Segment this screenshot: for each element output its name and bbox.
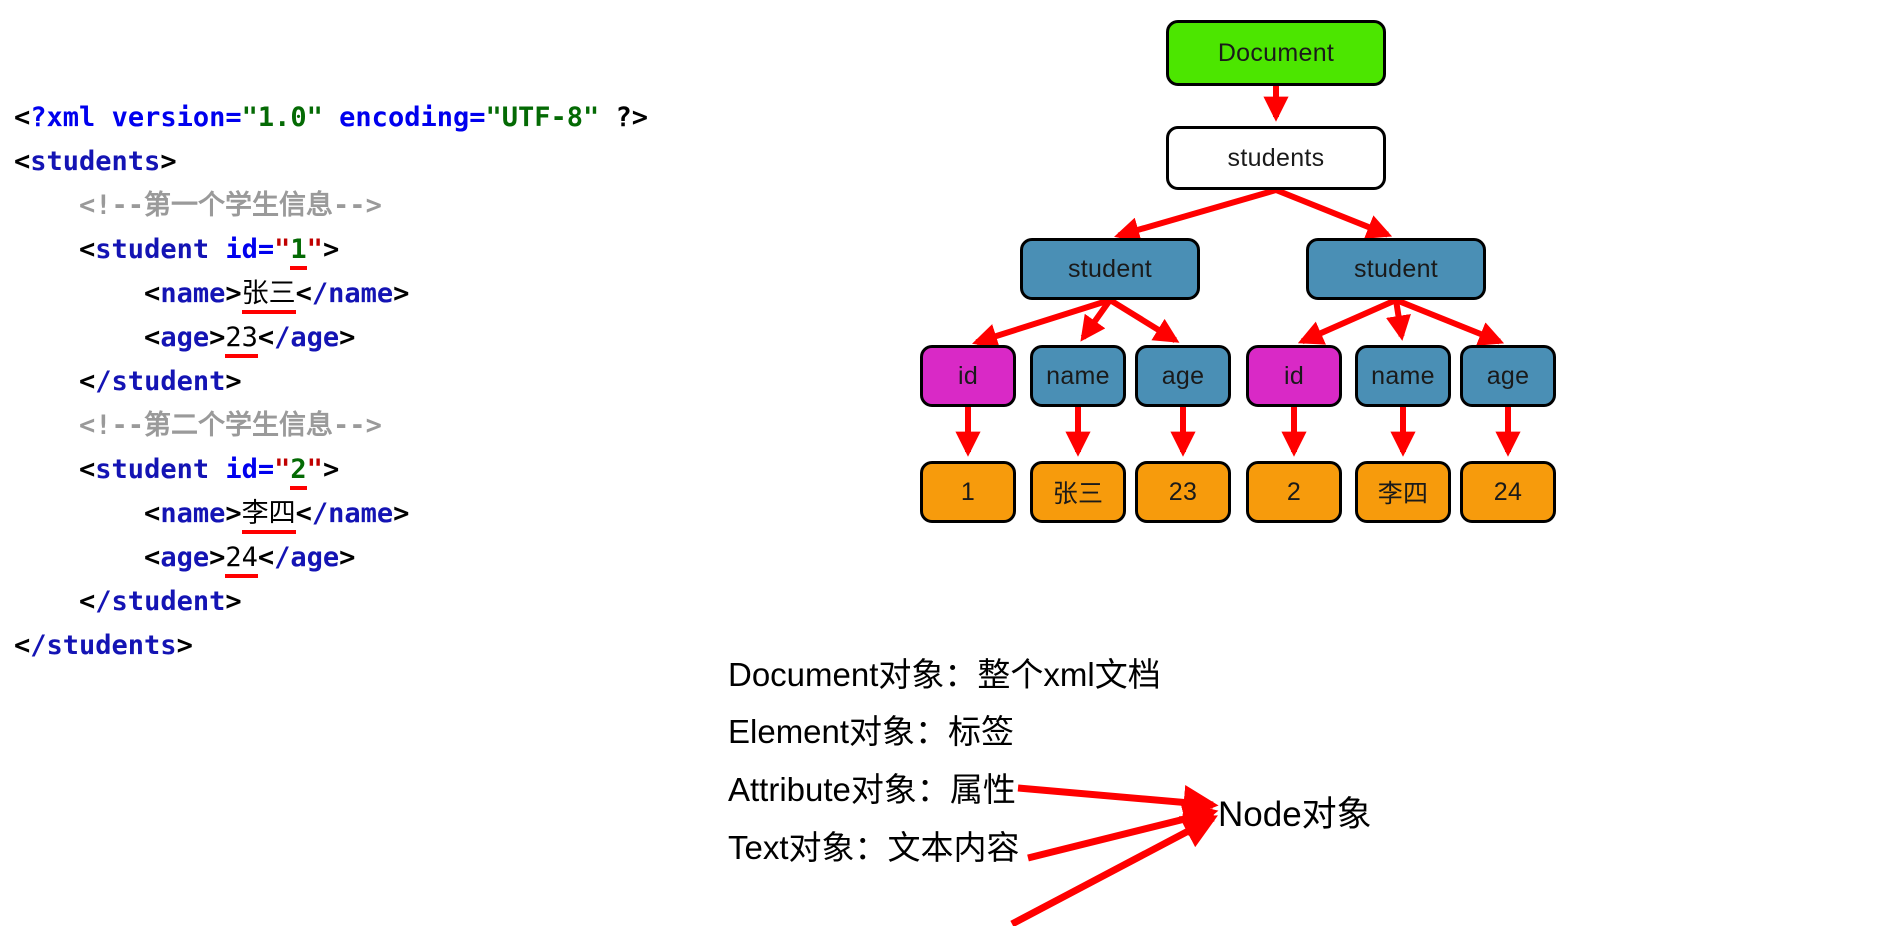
- code-token: students: [30, 146, 160, 177]
- code-token: >: [393, 498, 409, 529]
- code-token: =: [469, 102, 485, 133]
- code-token: <: [258, 542, 274, 573]
- code-token: =: [258, 454, 274, 485]
- code-token: /name: [312, 498, 393, 529]
- code-token: [95, 102, 111, 133]
- tree-edge-student-1-to-age-1: [1110, 300, 1175, 340]
- code-token: >: [225, 498, 241, 529]
- code-token: >: [209, 542, 225, 573]
- code-token: ": [307, 234, 323, 265]
- code-indent: [14, 586, 79, 617]
- code-token: <: [14, 630, 30, 661]
- code-token: /student: [95, 366, 225, 397]
- tree-node-label: name: [1371, 362, 1435, 391]
- tree-node-label: id: [1284, 362, 1304, 391]
- tree-edge-student-1-to-name-1: [1083, 300, 1110, 338]
- tree-node-label: students: [1228, 144, 1325, 173]
- tree-edge-students-to-student-2: [1276, 190, 1388, 235]
- code-token: >: [393, 278, 409, 309]
- code-token: name: [160, 498, 225, 529]
- code-indent: [14, 366, 79, 397]
- code-token: ": [274, 454, 290, 485]
- tree-node-label: id: [958, 362, 978, 391]
- code-token: >: [225, 278, 241, 309]
- code-token: [323, 102, 339, 133]
- code-token: 24: [225, 542, 258, 578]
- tree-node-label: 张三: [1053, 474, 1104, 510]
- tree-node-label: 23: [1169, 478, 1197, 507]
- legend-arrow-group: [1012, 788, 1213, 924]
- tree-node-value-age-1: 23: [1135, 461, 1231, 523]
- tree-node-value-id-1: 1: [920, 461, 1016, 523]
- code-token: >: [323, 234, 339, 265]
- code-indent: [14, 322, 144, 353]
- tree-node-label: age: [1162, 362, 1205, 391]
- code-token: >: [339, 322, 355, 353]
- code-line-age-2: <age>24</age>: [14, 536, 814, 580]
- code-token: >: [339, 542, 355, 573]
- code-token: /age: [274, 322, 339, 353]
- code-token: student: [95, 454, 209, 485]
- dom-tree-diagram: Documentstudentsstudentstudentidnameagei…: [860, 0, 1892, 926]
- code-token: <: [14, 146, 30, 177]
- xml-code-listing: <?xml version="1.0" encoding="UTF-8" ?><…: [14, 96, 814, 668]
- code-token: /name: [312, 278, 393, 309]
- tree-node-value-name-2: 李四: [1355, 461, 1451, 523]
- tree-node-name-1: name: [1030, 345, 1126, 407]
- code-token: <!--第一个学生信息-->: [79, 190, 382, 221]
- code-line-student-close-1: </student>: [14, 360, 814, 404]
- code-token: [599, 102, 615, 133]
- tree-node-label: age: [1487, 362, 1530, 391]
- code-token: =: [225, 102, 241, 133]
- code-line-name-2: <name>李四</name>: [14, 492, 814, 536]
- code-indent: [14, 498, 144, 529]
- code-token: "UTF-8": [485, 102, 599, 133]
- tree-node-value-age-2: 24: [1460, 461, 1556, 523]
- code-token: <: [144, 542, 160, 573]
- code-token: age: [160, 322, 209, 353]
- code-line-student-close-2: </student>: [14, 580, 814, 624]
- code-token: 2: [290, 454, 306, 490]
- code-token: >: [160, 146, 176, 177]
- code-token: 张三: [242, 278, 296, 314]
- code-token: <!--第二个学生信息-->: [79, 410, 382, 441]
- code-token: id: [225, 234, 258, 265]
- code-token: 1: [290, 234, 306, 270]
- code-indent: [14, 234, 79, 265]
- code-token: /age: [274, 542, 339, 573]
- code-token: ?xml: [30, 102, 95, 133]
- code-token: <: [296, 498, 312, 529]
- code-token: <: [79, 366, 95, 397]
- code-token: age: [160, 542, 209, 573]
- code-token: >: [209, 322, 225, 353]
- legend-text-line: Text对象：文本内容: [728, 821, 1020, 869]
- legend-element-line: Element对象：标签: [728, 705, 1014, 753]
- code-line-comment-1: <!--第一个学生信息-->: [14, 184, 814, 228]
- code-line-comment-2: <!--第二个学生信息-->: [14, 404, 814, 448]
- code-token: <: [296, 278, 312, 309]
- code-token: student: [95, 234, 209, 265]
- tree-node-document: Document: [1166, 20, 1386, 86]
- code-line-students-close: </students>: [14, 624, 814, 668]
- legend-attribute-line: Attribute对象：属性: [728, 763, 1016, 811]
- code-token: <: [258, 322, 274, 353]
- code-indent: [14, 542, 144, 573]
- code-token: "1.0": [242, 102, 323, 133]
- tree-node-label: 1: [961, 478, 975, 507]
- tree-node-label: 2: [1287, 478, 1301, 507]
- code-token: name: [160, 278, 225, 309]
- tree-node-label: name: [1046, 362, 1110, 391]
- code-token: <: [79, 234, 95, 265]
- code-line-decl: <?xml version="1.0" encoding="UTF-8" ?>: [14, 96, 814, 140]
- tree-node-age-1: age: [1135, 345, 1231, 407]
- code-token: version: [112, 102, 226, 133]
- tree-node-students: students: [1166, 126, 1386, 190]
- tree-node-id-1: id: [920, 345, 1016, 407]
- legend-node-target: Node对象: [1218, 786, 1372, 837]
- code-token: <: [144, 278, 160, 309]
- tree-node-label: student: [1354, 255, 1438, 284]
- tree-edge-student-2-to-age-2: [1396, 300, 1500, 342]
- code-token: <: [144, 322, 160, 353]
- code-token: >: [225, 366, 241, 397]
- code-token: encoding: [339, 102, 469, 133]
- tree-edge-student-1-to-id-1: [977, 300, 1110, 342]
- tree-node-label: 24: [1494, 478, 1522, 507]
- tree-edge-student-2-to-name-2: [1396, 300, 1402, 336]
- tree-node-age-2: age: [1460, 345, 1556, 407]
- code-indent: [14, 454, 79, 485]
- code-indent: [14, 278, 144, 309]
- tree-node-id-2: id: [1246, 345, 1342, 407]
- code-line-name-1: <name>张三</name>: [14, 272, 814, 316]
- code-line-student-open-2: <student id="2">: [14, 448, 814, 492]
- code-indent: [14, 190, 79, 221]
- legend-document-line: Document对象：整个xml文档: [728, 648, 1161, 696]
- tree-node-student-1: student: [1020, 238, 1200, 300]
- code-token: <: [79, 586, 95, 617]
- code-token: /student: [95, 586, 225, 617]
- code-token: =: [258, 234, 274, 265]
- code-token: ": [307, 454, 323, 485]
- code-token: >: [225, 586, 241, 617]
- tree-node-label: Document: [1218, 39, 1334, 68]
- code-token: <: [79, 454, 95, 485]
- code-indent: [14, 410, 79, 441]
- tree-node-name-2: name: [1355, 345, 1451, 407]
- tree-node-student-2: student: [1306, 238, 1486, 300]
- tree-edge-students-to-student-1: [1119, 190, 1276, 236]
- tree-node-label: 李四: [1378, 474, 1429, 510]
- code-token: ?>: [616, 102, 649, 133]
- code-token: >: [177, 630, 193, 661]
- code-line-age-1: <age>23</age>: [14, 316, 814, 360]
- code-line-students-open: <students>: [14, 140, 814, 184]
- tree-edge-student-2-to-id-2: [1302, 300, 1396, 341]
- tree-node-value-name-1: 张三: [1030, 461, 1126, 523]
- code-token: ": [274, 234, 290, 265]
- tree-node-value-id-2: 2: [1246, 461, 1342, 523]
- code-token: <: [14, 102, 30, 133]
- code-token: id: [225, 454, 258, 485]
- code-token: [209, 454, 225, 485]
- code-line-student-open-1: <student id="1">: [14, 228, 814, 272]
- code-token: [209, 234, 225, 265]
- code-token: 23: [225, 322, 258, 358]
- code-token: /students: [30, 630, 176, 661]
- tree-node-label: student: [1068, 255, 1152, 284]
- code-token: <: [144, 498, 160, 529]
- code-token: 李四: [242, 498, 296, 534]
- code-token: >: [323, 454, 339, 485]
